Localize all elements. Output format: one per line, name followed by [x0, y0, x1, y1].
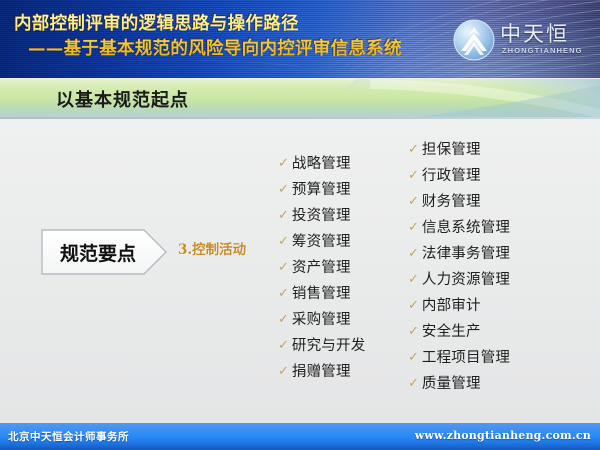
checkmark-icon: ✓: [408, 351, 419, 364]
footer-company-name: 北京中天恒会计师事务所: [8, 429, 129, 444]
list-item-label: 法律事务管理: [422, 242, 510, 263]
list-item: ✓捐赠管理: [278, 360, 365, 386]
list-item-label: 安全生产: [422, 320, 481, 341]
checkmark-icon: ✓: [278, 157, 289, 170]
list-item-label: 资产管理: [292, 256, 351, 277]
checkmark-icon: ✓: [408, 221, 419, 234]
list-item: ✓行政管理: [408, 164, 510, 190]
list-item: ✓法律事务管理: [408, 242, 510, 268]
checkmark-icon: ✓: [408, 143, 419, 156]
checkmark-icon: ✓: [408, 299, 419, 312]
stage-label: 3.控制活动: [178, 238, 246, 258]
list-item-label: 筹资管理: [292, 230, 351, 251]
key-points-label: 规范要点: [50, 239, 146, 266]
list-item-label: 内部审计: [422, 294, 481, 315]
slide-header: 内部控制评审的逻辑思路与操作路径 ——基于基本规范的风险导向内控评审信息系统 中…: [0, 0, 600, 78]
section-subtitle-band: 以基本规范起点: [0, 79, 600, 118]
company-logo: 中天恒 ZHONGTIANHENG: [452, 16, 592, 66]
mountain-chevron-emblem-icon: [452, 18, 496, 62]
list-item: ✓研究与开发: [278, 334, 365, 360]
list-item: ✓投资管理: [278, 204, 365, 230]
list-item-label: 财务管理: [422, 190, 481, 211]
section-subtitle-text: 以基本规范起点: [56, 86, 189, 112]
list-item: ✓销售管理: [278, 282, 365, 308]
checkmark-icon: ✓: [408, 169, 419, 182]
list-item-label: 工程项目管理: [422, 346, 510, 367]
logo-text-chinese: 中天恒: [500, 18, 569, 48]
list-item: ✓人力资源管理: [408, 268, 510, 294]
checkmark-icon: ✓: [278, 209, 289, 222]
list-item-label: 采购管理: [292, 308, 351, 329]
list-item: ✓工程项目管理: [408, 346, 510, 372]
list-item-label: 战略管理: [292, 152, 351, 173]
list-item: ✓内部审计: [408, 294, 510, 320]
list-item-label: 行政管理: [422, 164, 481, 185]
checkmark-icon: ✓: [278, 339, 289, 352]
list-item: ✓战略管理: [278, 152, 365, 178]
band-swoosh-decoration: [370, 79, 600, 118]
list-item: ✓财务管理: [408, 190, 510, 216]
list-item-label: 研究与开发: [292, 334, 366, 355]
list-item-label: 担保管理: [422, 138, 481, 159]
list-item: ✓筹资管理: [278, 230, 365, 256]
checkmark-icon: ✓: [278, 183, 289, 196]
list-item-label: 捐赠管理: [292, 360, 351, 381]
slide-footer: 北京中天恒会计师事务所 www.zhongtianheng.com.cn: [0, 423, 600, 450]
footer-website[interactable]: www.zhongtianheng.com.cn: [415, 429, 591, 442]
list-item-label: 人力资源管理: [422, 268, 510, 289]
middle-activity-list: ✓战略管理✓预算管理✓投资管理✓筹资管理✓资产管理✓销售管理✓采购管理✓研究与开…: [278, 152, 365, 386]
list-item: ✓信息系统管理: [408, 216, 510, 242]
checkmark-icon: ✓: [408, 377, 419, 390]
checkmark-icon: ✓: [408, 273, 419, 286]
checkmark-icon: ✓: [278, 235, 289, 248]
checkmark-icon: ✓: [278, 365, 289, 378]
checkmark-icon: ✓: [278, 313, 289, 326]
checkmark-icon: ✓: [278, 261, 289, 274]
checkmark-icon: ✓: [408, 195, 419, 208]
list-item: ✓担保管理: [408, 138, 510, 164]
presentation-title-line2: ——基于基本规范的风险导向内控评审信息系统: [14, 37, 444, 62]
checkmark-icon: ✓: [408, 247, 419, 260]
band-underline-divider: [0, 117, 600, 119]
key-points-callout: 规范要点: [40, 228, 168, 276]
logo-text-pinyin: ZHONGTIANHENG: [502, 46, 583, 55]
slide-body: 规范要点 3.控制活动 ✓战略管理✓预算管理✓投资管理✓筹资管理✓资产管理✓销售…: [0, 120, 600, 420]
right-activity-list: ✓担保管理✓行政管理✓财务管理✓信息系统管理✓法律事务管理✓人力资源管理✓内部审…: [408, 138, 510, 398]
checkmark-icon: ✓: [408, 325, 419, 338]
list-item: ✓质量管理: [408, 372, 510, 398]
list-item: ✓资产管理: [278, 256, 365, 282]
presentation-title: 内部控制评审的逻辑思路与操作路径 ——基于基本规范的风险导向内控评审信息系统: [14, 12, 444, 62]
checkmark-icon: ✓: [278, 287, 289, 300]
list-item-label: 信息系统管理: [422, 216, 510, 237]
slide: 内部控制评审的逻辑思路与操作路径 ——基于基本规范的风险导向内控评审信息系统 中…: [0, 0, 600, 450]
list-item-label: 质量管理: [422, 372, 481, 393]
presentation-title-line1: 内部控制评审的逻辑思路与操作路径: [14, 14, 299, 34]
list-item: ✓安全生产: [408, 320, 510, 346]
list-item-label: 预算管理: [292, 178, 351, 199]
list-item: ✓预算管理: [278, 178, 365, 204]
list-item-label: 销售管理: [292, 282, 351, 303]
list-item: ✓采购管理: [278, 308, 365, 334]
list-item-label: 投资管理: [292, 204, 351, 225]
